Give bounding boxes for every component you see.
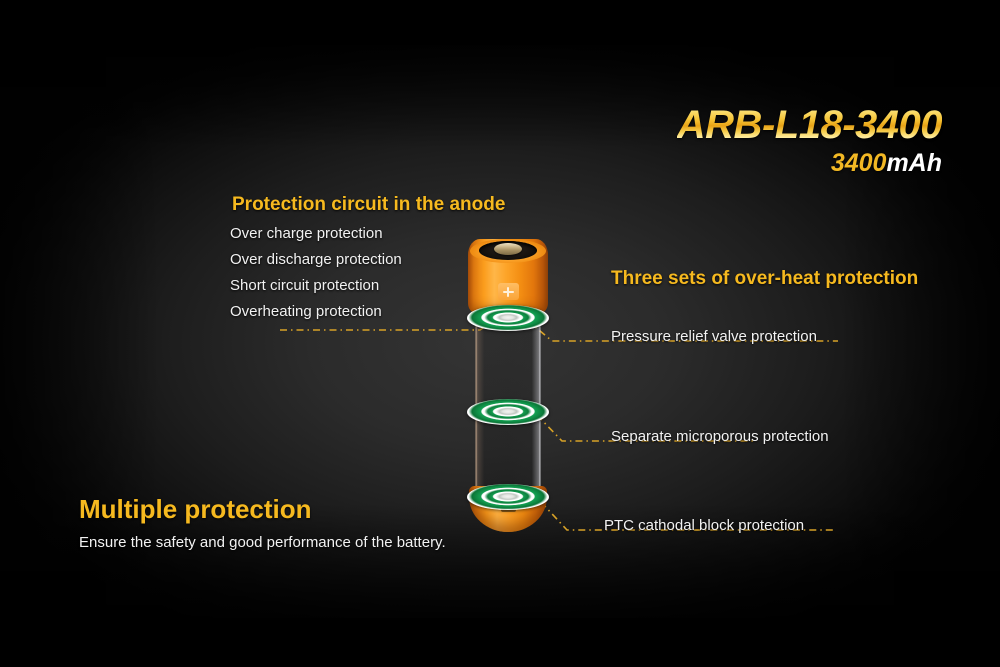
plus-icon [498, 283, 519, 300]
battery-positive-cap [468, 239, 548, 313]
label-pressure-relief-valve: Pressure relief valve protection [611, 328, 817, 345]
label-ptc-cathodal-block: PTC cathodal block protection [604, 517, 804, 534]
battery-positive-terminal [494, 243, 522, 255]
summary-heading: Multiple protection [79, 494, 312, 525]
anode-section-heading: Protection circuit in the anode [232, 194, 505, 216]
capacity-value: 3400 [831, 149, 887, 177]
summary-subtext: Ensure the safety and good performance o… [79, 534, 446, 551]
list-item: Short circuit protection [230, 273, 402, 299]
protection-disc-pressure-relief [467, 305, 549, 331]
label-separate-microporous: Separate microporous protection [611, 428, 829, 445]
capacity-unit: mAh [886, 149, 942, 177]
poster-stage: ARB-L18-3400 3400mAh Protection circuit … [0, 0, 1000, 667]
anode-protection-list: Over charge protection Over discharge pr… [230, 221, 402, 325]
product-capacity: 3400mAh [677, 149, 942, 178]
protection-disc-separate-microporous [467, 399, 549, 425]
protection-disc-ptc-cathodal [467, 484, 549, 510]
letterbox-top [0, 0, 1000, 45]
overheat-section-heading: Three sets of over-heat protection [611, 268, 918, 290]
page-title: ARB-L18-3400 [677, 104, 942, 146]
letterbox-bottom [0, 618, 1000, 667]
list-item: Overheating protection [230, 299, 402, 325]
headline-block: ARB-L18-3400 3400mAh [677, 104, 942, 178]
list-item: Over charge protection [230, 221, 402, 247]
list-item: Over discharge protection [230, 247, 402, 273]
battery-illustration [468, 233, 548, 536]
